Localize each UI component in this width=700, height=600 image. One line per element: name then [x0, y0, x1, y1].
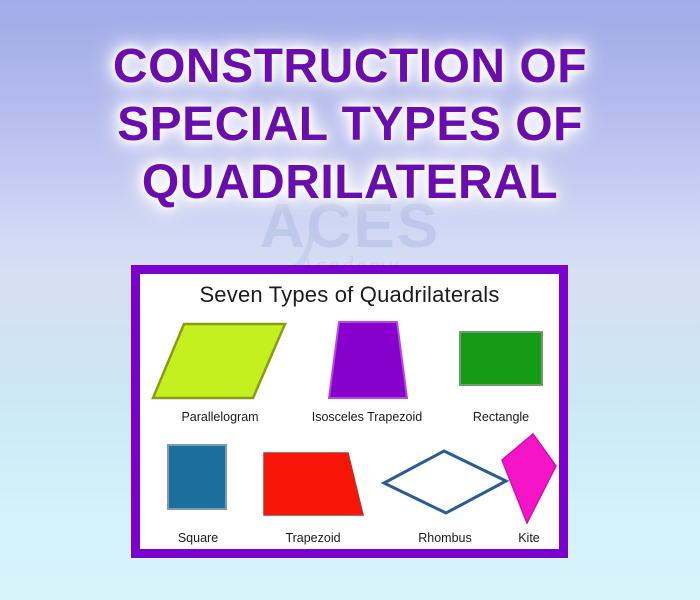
figure-card: Seven Types of Quadrilaterals Parallelog…: [131, 265, 568, 558]
rectangle-icon: [448, 318, 554, 406]
kite-icon: [500, 430, 558, 528]
isosceles-trapezoid-icon: [292, 318, 442, 406]
shape-cell-rectangle: Rectangle: [448, 318, 554, 428]
title-line-2: SPECIAL TYPES OF: [0, 96, 700, 154]
parallelogram-icon: [150, 318, 290, 406]
figure-heading: Seven Types of Quadrilaterals: [140, 282, 559, 308]
shape-label-rectangle: Rectangle: [448, 410, 554, 424]
figure-inner-panel: Seven Types of Quadrilaterals Parallelog…: [140, 274, 559, 549]
square-icon: [146, 437, 250, 527]
shape-label-trapezoid: Trapezoid: [250, 531, 376, 545]
page-title: CONSTRUCTION OF SPECIAL TYPES OF QUADRIL…: [0, 38, 700, 212]
shape-label-isosceles-trapezoid: Isosceles Trapezoid: [292, 410, 442, 424]
shape-cell-kite: Kite: [500, 430, 558, 548]
title-line-3: QUADRILATERAL: [0, 154, 700, 212]
shape-label-kite: Kite: [500, 531, 558, 545]
shape-cell-square: Square: [146, 437, 250, 547]
slide-canvas: ACES Academy CONSTRUCTION OF SPECIAL TYP…: [0, 0, 700, 600]
shape-cell-rhombus: Rhombus: [378, 437, 512, 547]
rhombus-icon: [378, 437, 512, 527]
trapezoid-icon: [250, 437, 376, 527]
shape-label-rhombus: Rhombus: [378, 531, 512, 545]
shape-cell-isosceles-trapezoid: Isosceles Trapezoid: [292, 318, 442, 428]
shape-label-square: Square: [146, 531, 250, 545]
title-line-1: CONSTRUCTION OF: [0, 38, 700, 96]
shape-cell-trapezoid: Trapezoid: [250, 437, 376, 547]
shape-label-parallelogram: Parallelogram: [150, 410, 290, 424]
shape-cell-parallelogram: Parallelogram: [150, 318, 290, 428]
